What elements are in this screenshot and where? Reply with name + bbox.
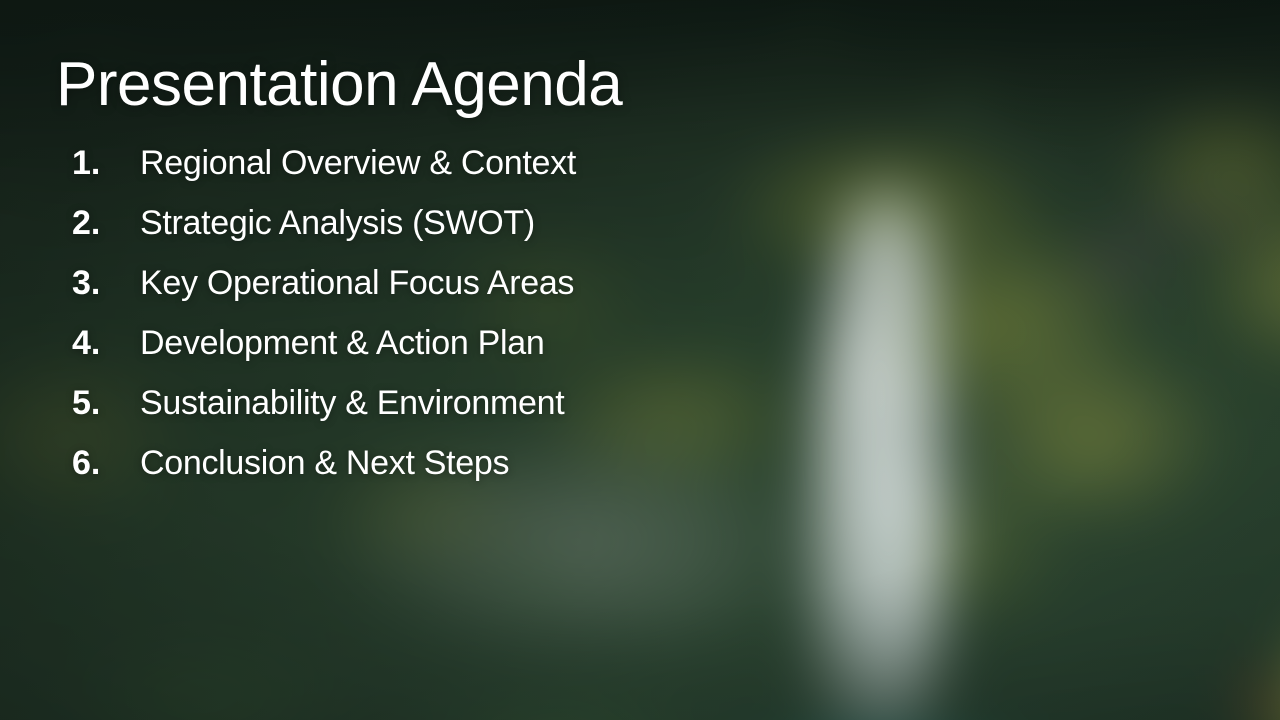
agenda-item[interactable]: 2. Strategic Analysis (SWOT)	[56, 204, 836, 264]
agenda-item[interactable]: 5. Sustainability & Environment	[56, 384, 836, 444]
agenda-item-label: Conclusion & Next Steps	[140, 444, 509, 483]
agenda-item-label: Strategic Analysis (SWOT)	[140, 204, 535, 243]
agenda-item-label: Regional Overview & Context	[140, 144, 576, 183]
agenda-item[interactable]: 6. Conclusion & Next Steps	[56, 444, 836, 504]
agenda-item-number: 1.	[56, 144, 140, 183]
presentation-slide: Presentation Agenda 1. Regional Overview…	[0, 0, 1280, 720]
agenda-item-label: Development & Action Plan	[140, 324, 545, 363]
agenda-item-label: Key Operational Focus Areas	[140, 264, 574, 303]
agenda-item[interactable]: 4. Development & Action Plan	[56, 324, 836, 384]
agenda-item-number: 4.	[56, 324, 140, 363]
slide-content: Presentation Agenda 1. Regional Overview…	[0, 0, 1280, 720]
agenda-item[interactable]: 1. Regional Overview & Context	[56, 144, 836, 204]
agenda-item-number: 6.	[56, 444, 140, 483]
agenda-item-number: 2.	[56, 204, 140, 243]
agenda-item[interactable]: 3. Key Operational Focus Areas	[56, 264, 836, 324]
agenda-item-number: 3.	[56, 264, 140, 303]
agenda-item-label: Sustainability & Environment	[140, 384, 564, 423]
slide-title: Presentation Agenda	[56, 52, 622, 117]
agenda-item-number: 5.	[56, 384, 140, 423]
agenda-list: 1. Regional Overview & Context 2. Strate…	[56, 144, 836, 504]
